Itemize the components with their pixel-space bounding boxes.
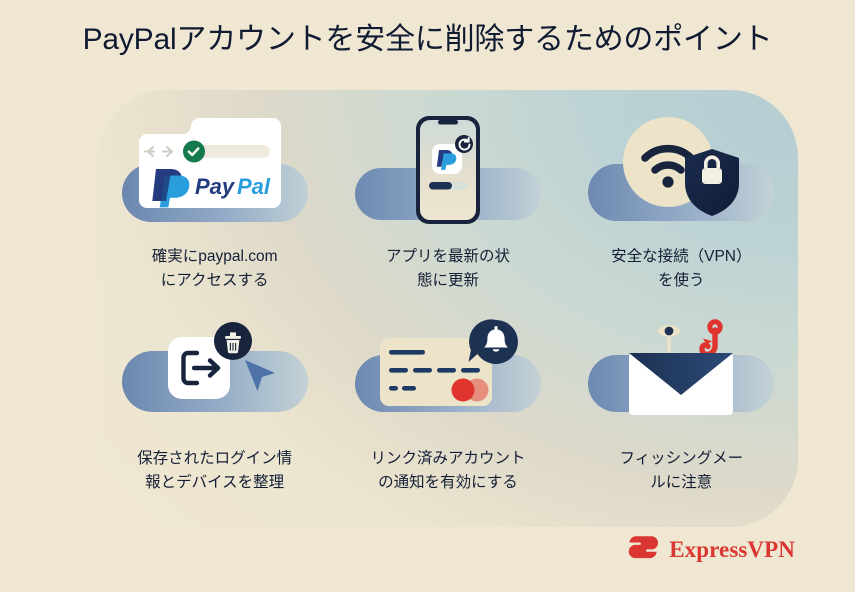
logout-trash-cursor-icon — [115, 310, 315, 435]
tip-card-enable-notifications: リンク済みアカウント の通知を有効にする — [331, 306, 564, 516]
tip-card-beware-phishing: フィッシングメー ルに注意 — [565, 306, 798, 516]
expressvpn-logo-icon — [626, 532, 660, 567]
tip-card-update-app: アプリを最新の状 態に更新 — [331, 96, 564, 306]
credit-card-bell-icon — [348, 310, 548, 435]
tip-card-use-vpn: 安全な接続（VPN） を使う — [565, 96, 798, 306]
svg-text:Pal: Pal — [237, 174, 271, 199]
tip-caption: 保存されたログイン情 報とデバイスを整理 — [112, 447, 317, 495]
tip-caption: フィッシングメー ルに注意 — [579, 447, 784, 495]
tip-caption: 安全な接続（VPN） を使う — [579, 245, 784, 293]
tip-card-clear-logins: 保存されたログイン情 報とデバイスを整理 — [98, 306, 331, 516]
expressvpn-brand: ExpressVPN — [626, 532, 795, 567]
svg-text:Pay: Pay — [195, 174, 236, 199]
smartphone-app-update-icon — [348, 106, 548, 231]
expressvpn-wordmark: ExpressVPN — [669, 537, 795, 563]
infographic-root: PayPalアカウントを安全に削除するためのポイント — [0, 0, 855, 592]
envelope-phishing-hook-icon — [581, 310, 781, 435]
tip-caption: リンク済みアカウント の通知を有効にする — [345, 447, 550, 495]
tip-caption: 確実にpaypal.com にアクセスする — [112, 245, 317, 293]
wifi-shield-lock-icon — [581, 106, 781, 231]
tip-caption: アプリを最新の状 態に更新 — [345, 245, 550, 293]
tip-card-verify-domain: Pay Pal 確実にpaypal.com にアクセスする — [98, 96, 331, 306]
page-title: PayPalアカウントを安全に削除するためのポイント — [0, 20, 855, 60]
tips-grid: Pay Pal 確実にpaypal.com にアクセスする — [98, 96, 798, 516]
browser-paypal-secure-icon: Pay Pal — [115, 106, 315, 231]
